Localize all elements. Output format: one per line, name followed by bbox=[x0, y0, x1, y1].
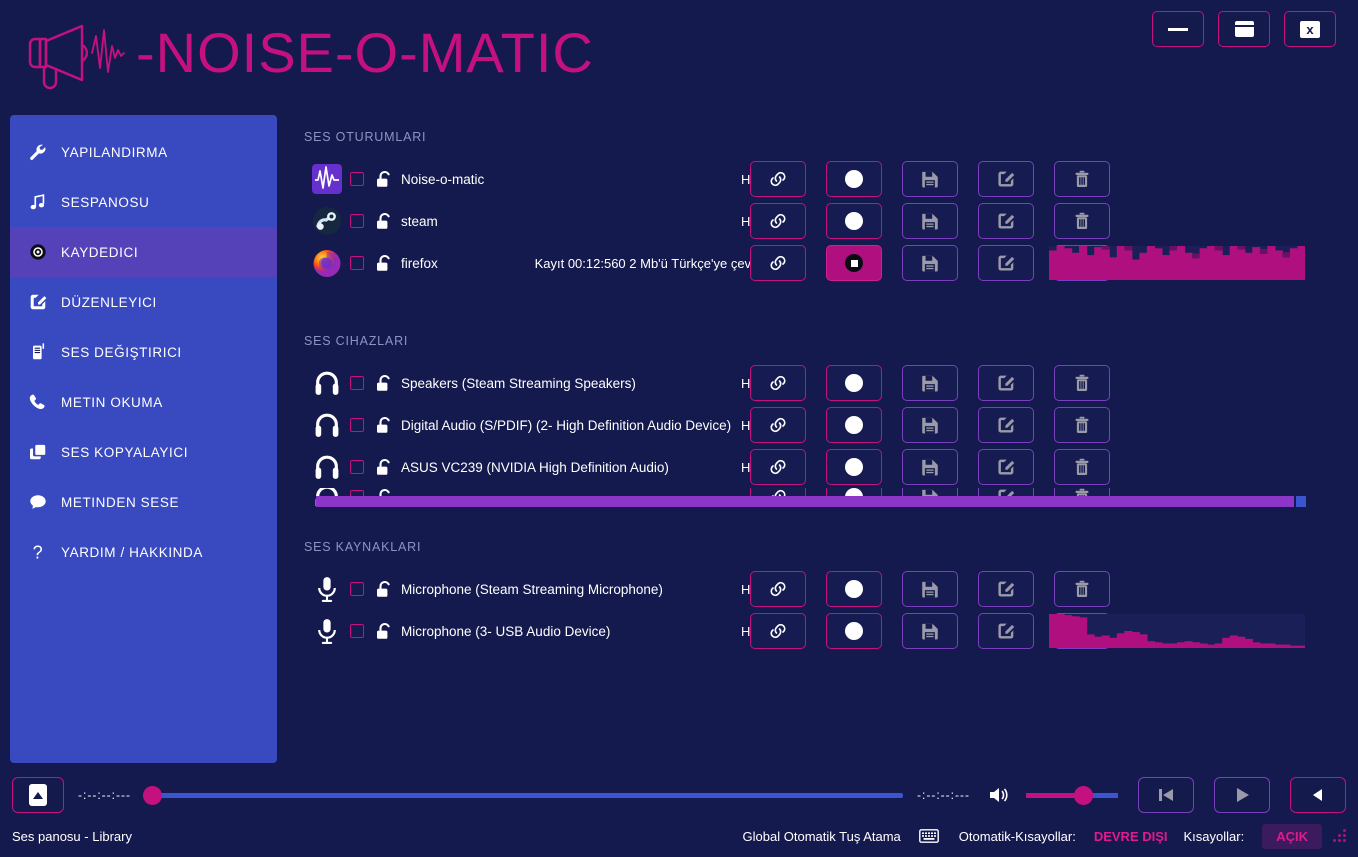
row-actions bbox=[750, 449, 1110, 485]
sidebar-item-label: KAYDEDICI bbox=[61, 245, 138, 260]
link-button[interactable] bbox=[750, 161, 806, 197]
sidebar-item-label: YARDIM / HAKKINDA bbox=[61, 545, 203, 560]
record-button[interactable] bbox=[826, 571, 882, 607]
seek-slider[interactable] bbox=[143, 786, 903, 804]
delete-button[interactable] bbox=[1054, 571, 1110, 607]
save-button[interactable] bbox=[902, 161, 958, 197]
row-label: steam bbox=[401, 214, 438, 229]
sidebar-item-sespanosu[interactable]: SESPANOSU bbox=[10, 177, 277, 227]
question-mark-icon: ? bbox=[28, 541, 52, 563]
unlock-icon[interactable] bbox=[373, 212, 393, 230]
seek-knob[interactable] bbox=[143, 786, 162, 805]
sidebar-item-yapilandirma[interactable]: YAPILANDIRMA bbox=[10, 127, 277, 177]
eject-icon bbox=[29, 784, 47, 806]
edit-button[interactable] bbox=[978, 161, 1034, 197]
table-row[interactable]: Noise-o-maticHazır bbox=[304, 158, 1344, 200]
edit-button[interactable] bbox=[978, 245, 1034, 281]
auto-shortcuts-value[interactable]: DEVRE DIŞI bbox=[1094, 829, 1168, 844]
record-circle-icon bbox=[28, 242, 52, 262]
record-button[interactable] bbox=[826, 203, 882, 239]
row-checkbox[interactable] bbox=[350, 582, 364, 596]
row-checkbox[interactable] bbox=[350, 376, 364, 390]
row-label: Digital Audio (S/PDIF) (2- High Definiti… bbox=[401, 418, 731, 433]
keyboard-icon[interactable] bbox=[919, 829, 939, 843]
scrollbar-track[interactable] bbox=[1296, 496, 1306, 507]
sidebar-item-metinden-sese[interactable]: METINDEN SESE bbox=[10, 477, 277, 527]
restore-button[interactable] bbox=[1218, 11, 1270, 47]
delete-button[interactable] bbox=[1054, 365, 1110, 401]
current-time: -:--:--:--- bbox=[78, 788, 131, 802]
record-dot-icon bbox=[845, 580, 863, 598]
status-bar: Ses panosu - Library Global Otomatik Tuş… bbox=[0, 815, 1358, 857]
row-label: Noise-o-matic bbox=[401, 172, 484, 187]
table-row[interactable]: Speakers (Steam Streaming Speakers)Hazır bbox=[304, 362, 1344, 404]
close-icon: x bbox=[1300, 21, 1320, 38]
row-label: ASUS VC239 (NVIDIA High Definition Audio… bbox=[401, 460, 669, 475]
link-button[interactable] bbox=[750, 203, 806, 239]
app-title: -NOISE-O-MATIC bbox=[136, 20, 594, 85]
edit-button[interactable] bbox=[978, 449, 1034, 485]
save-button[interactable] bbox=[902, 203, 958, 239]
sidebar-item-label: SESPANOSU bbox=[61, 195, 149, 210]
row-list: Speakers (Steam Streaming Speakers)Hazır… bbox=[304, 362, 1344, 506]
table-row[interactable]: Digital Audio (S/PDIF) (2- High Definiti… bbox=[304, 404, 1344, 446]
row-checkbox[interactable] bbox=[350, 624, 364, 638]
row-actions bbox=[750, 365, 1110, 401]
section-title: SES OTURUMLARI bbox=[304, 130, 1344, 144]
row-actions bbox=[750, 161, 1110, 197]
record-dot-icon bbox=[845, 458, 863, 476]
app-window: -NOISE-O-MATIC x YAPILANDIRMASESPANOSUKA… bbox=[0, 0, 1358, 857]
window-controls: x bbox=[1152, 11, 1336, 47]
record-dot-icon bbox=[845, 622, 863, 640]
horizontal-scrollbar[interactable] bbox=[316, 496, 1306, 507]
sidebar-item-yardim-hakkinda[interactable]: ?YARDIM / HAKKINDA bbox=[10, 527, 277, 577]
unlock-icon[interactable] bbox=[373, 580, 393, 598]
previous-button[interactable] bbox=[1290, 777, 1346, 813]
row-checkbox[interactable] bbox=[350, 418, 364, 432]
record-button[interactable] bbox=[826, 449, 882, 485]
unlock-icon[interactable] bbox=[373, 622, 393, 640]
sidebar-item-label: METINDEN SESE bbox=[61, 495, 179, 510]
seek-track bbox=[143, 793, 903, 798]
unlock-icon[interactable] bbox=[373, 416, 393, 434]
sidebar-item-label: YAPILANDIRMA bbox=[61, 145, 168, 160]
minimize-button[interactable] bbox=[1152, 11, 1204, 47]
firefox-app-icon bbox=[304, 248, 350, 278]
row-status: Kayıt 00:12:560 2 Mb'ü Türkçe'ye çevirin… bbox=[535, 256, 772, 271]
unlock-icon[interactable] bbox=[373, 458, 393, 476]
row-list: Microphone (Steam Streaming Microphone)H… bbox=[304, 568, 1344, 652]
row-label: Speakers (Steam Streaming Speakers) bbox=[401, 376, 636, 391]
play-button[interactable] bbox=[1214, 777, 1270, 813]
phone-icon bbox=[28, 392, 52, 412]
save-button[interactable] bbox=[902, 407, 958, 443]
edit-button[interactable] bbox=[978, 203, 1034, 239]
delete-button[interactable] bbox=[1054, 407, 1110, 443]
record-dot-icon bbox=[845, 170, 863, 188]
microphone-icon bbox=[304, 575, 350, 603]
microphone-icon bbox=[304, 617, 350, 645]
sidebar-item-ses-kopyalayici[interactable]: SES KOPYALAYICI bbox=[10, 427, 277, 477]
row-checkbox[interactable] bbox=[350, 214, 364, 228]
volume-slider[interactable] bbox=[1026, 786, 1118, 804]
svg-text:?: ? bbox=[33, 542, 44, 562]
row-actions bbox=[750, 571, 1110, 607]
table-row[interactable]: ASUS VC239 (NVIDIA High Definition Audio… bbox=[304, 446, 1344, 488]
edit-button[interactable] bbox=[978, 571, 1034, 607]
table-row[interactable]: Microphone (Steam Streaming Microphone)H… bbox=[304, 568, 1344, 610]
status-left-text: Ses panosu - Library bbox=[12, 829, 132, 844]
record-button[interactable] bbox=[826, 613, 882, 649]
save-button[interactable] bbox=[902, 365, 958, 401]
chat-bubble-icon bbox=[28, 492, 52, 512]
resize-grip-icon[interactable] bbox=[1332, 828, 1348, 844]
row-checkbox[interactable] bbox=[350, 172, 364, 186]
main-content: SES OTURUMLARINoise-o-maticHazırsteamHaz… bbox=[304, 130, 1344, 652]
transport-bar: -:--:--:--- -:--:--:--- bbox=[12, 776, 1346, 814]
level-meter bbox=[1049, 614, 1305, 648]
shortcuts-label: Kısayollar: bbox=[1184, 829, 1245, 844]
delete-button[interactable] bbox=[1054, 203, 1110, 239]
steam-app-icon bbox=[304, 206, 350, 236]
section-ses-kaynaklari: SES KAYNAKLARIMicrophone (Steam Streamin… bbox=[304, 540, 1344, 652]
link-button[interactable] bbox=[750, 245, 806, 281]
row-checkbox[interactable] bbox=[350, 256, 364, 270]
section-ses-oturumlari: SES OTURUMLARINoise-o-maticHazırsteamHaz… bbox=[304, 130, 1344, 284]
edit-square-icon bbox=[28, 292, 52, 312]
edit-button[interactable] bbox=[978, 613, 1034, 649]
sidebar: YAPILANDIRMASESPANOSUKAYDEDICIDÜZENLEYIC… bbox=[10, 115, 277, 763]
link-button[interactable] bbox=[750, 449, 806, 485]
record-dot-icon bbox=[845, 212, 863, 230]
edit-button[interactable] bbox=[978, 407, 1034, 443]
status-right-group: Global Otomatik Tuş Atama Otomatik-Kıs bbox=[743, 824, 1348, 849]
unlock-icon[interactable] bbox=[373, 254, 393, 272]
walkie-talkie-icon bbox=[28, 342, 52, 362]
section-title: SES CIHAZLARI bbox=[304, 334, 1344, 348]
record-button[interactable] bbox=[826, 365, 882, 401]
table-row[interactable]: Microphone (3- USB Audio Device)Hazır bbox=[304, 610, 1344, 652]
total-time: -:--:--:--- bbox=[917, 788, 970, 802]
level-meter bbox=[1049, 246, 1305, 280]
record-button[interactable] bbox=[826, 161, 882, 197]
scrollbar-thumb[interactable] bbox=[316, 496, 1294, 507]
sidebar-item-ses-de-i-tirici[interactable]: SES DEĞIŞTIRICI bbox=[10, 327, 277, 377]
sidebar-item-metin-okuma[interactable]: METIN OKUMA bbox=[10, 377, 277, 427]
delete-button[interactable] bbox=[1054, 161, 1110, 197]
unlock-icon[interactable] bbox=[373, 170, 393, 188]
link-button[interactable] bbox=[750, 407, 806, 443]
stop-record-icon bbox=[845, 254, 863, 272]
wrench-icon bbox=[28, 142, 52, 162]
section-ses-cihazlari: SES CIHAZLARISpeakers (Steam Streaming S… bbox=[304, 334, 1344, 506]
row-actions bbox=[750, 203, 1110, 239]
record-button[interactable] bbox=[826, 245, 882, 281]
noise-o-matic-app-icon bbox=[304, 164, 350, 194]
row-label: Microphone (3- USB Audio Device) bbox=[401, 624, 610, 639]
sidebar-item-label: METIN OKUMA bbox=[61, 395, 163, 410]
record-dot-icon bbox=[845, 374, 863, 392]
speaker-icon[interactable] bbox=[986, 786, 1012, 804]
row-actions bbox=[750, 407, 1110, 443]
unlock-icon[interactable] bbox=[373, 374, 393, 392]
eject-button[interactable] bbox=[12, 777, 64, 813]
save-button[interactable] bbox=[902, 449, 958, 485]
sidebar-item-d-zenleyici[interactable]: DÜZENLEYICI bbox=[10, 277, 277, 327]
minimize-icon bbox=[1168, 28, 1188, 31]
save-button[interactable] bbox=[902, 571, 958, 607]
edit-button[interactable] bbox=[978, 365, 1034, 401]
play-icon bbox=[1232, 786, 1252, 804]
headphones-icon bbox=[304, 453, 350, 481]
save-button[interactable] bbox=[902, 245, 958, 281]
global-hotkeys-label: Global Otomatik Tuş Atama bbox=[743, 829, 901, 844]
record-dot-icon bbox=[845, 416, 863, 434]
sidebar-item-label: SES KOPYALAYICI bbox=[61, 445, 188, 460]
table-row[interactable]: steamHazır bbox=[304, 200, 1344, 242]
back-triangle-icon bbox=[1308, 786, 1328, 804]
copy-icon bbox=[28, 442, 52, 462]
skip-back-icon bbox=[1156, 786, 1176, 804]
headphones-icon bbox=[304, 369, 350, 397]
section-title: SES KAYNAKLARI bbox=[304, 540, 1344, 554]
restore-icon bbox=[1235, 21, 1254, 37]
row-label: Microphone (Steam Streaming Microphone) bbox=[401, 582, 663, 597]
save-button[interactable] bbox=[902, 613, 958, 649]
link-button[interactable] bbox=[750, 571, 806, 607]
row-label: firefox bbox=[401, 256, 438, 271]
close-button[interactable]: x bbox=[1284, 11, 1336, 47]
record-button[interactable] bbox=[826, 407, 882, 443]
skip-to-start-button[interactable] bbox=[1138, 777, 1194, 813]
row-list: Noise-o-maticHazırsteamHazırfirefoxKayıt… bbox=[304, 158, 1344, 284]
link-button[interactable] bbox=[750, 613, 806, 649]
app-logo: -NOISE-O-MATIC bbox=[18, 12, 594, 92]
music-note-icon bbox=[28, 192, 52, 212]
headphones-icon bbox=[304, 411, 350, 439]
delete-button[interactable] bbox=[1054, 449, 1110, 485]
table-row[interactable]: firefoxKayıt 00:12:560 2 Mb'ü Türkçe'ye … bbox=[304, 242, 1344, 284]
link-button[interactable] bbox=[750, 365, 806, 401]
megaphone-waveform-icon bbox=[18, 12, 138, 92]
volume-knob[interactable] bbox=[1074, 786, 1093, 805]
shortcuts-value[interactable]: AÇIK bbox=[1262, 824, 1322, 849]
sidebar-item-label: SES DEĞIŞTIRICI bbox=[61, 345, 182, 360]
sidebar-item-kaydedici[interactable]: KAYDEDICI bbox=[10, 227, 277, 277]
auto-shortcuts-label: Otomatik-Kısayollar: bbox=[959, 829, 1076, 844]
sidebar-item-label: DÜZENLEYICI bbox=[61, 295, 157, 310]
row-checkbox[interactable] bbox=[350, 460, 364, 474]
